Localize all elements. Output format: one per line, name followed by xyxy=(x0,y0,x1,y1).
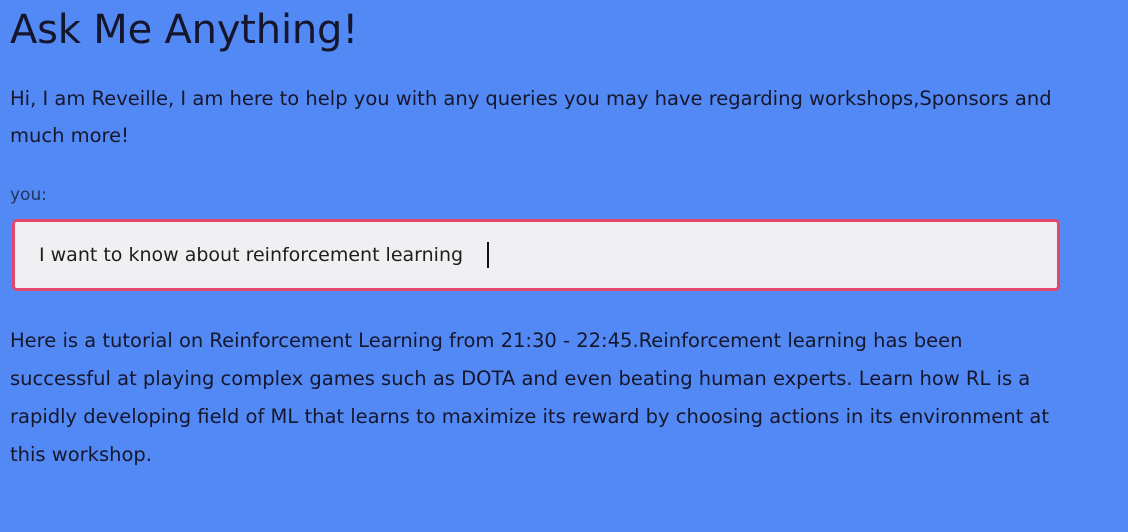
text-caret xyxy=(487,242,489,268)
question-input[interactable] xyxy=(15,222,489,288)
page-title: Ask Me Anything! xyxy=(10,6,358,54)
question-input-label: you: xyxy=(10,185,47,205)
question-input-container[interactable] xyxy=(12,219,1060,291)
ask-me-anything-page: Ask Me Anything! Hi, I am Reveille, I am… xyxy=(0,0,1128,532)
intro-description: Hi, I am Reveille, I am here to help you… xyxy=(10,80,1070,154)
bot-response-text: Here is a tutorial on Reinforcement Lear… xyxy=(10,322,1066,474)
